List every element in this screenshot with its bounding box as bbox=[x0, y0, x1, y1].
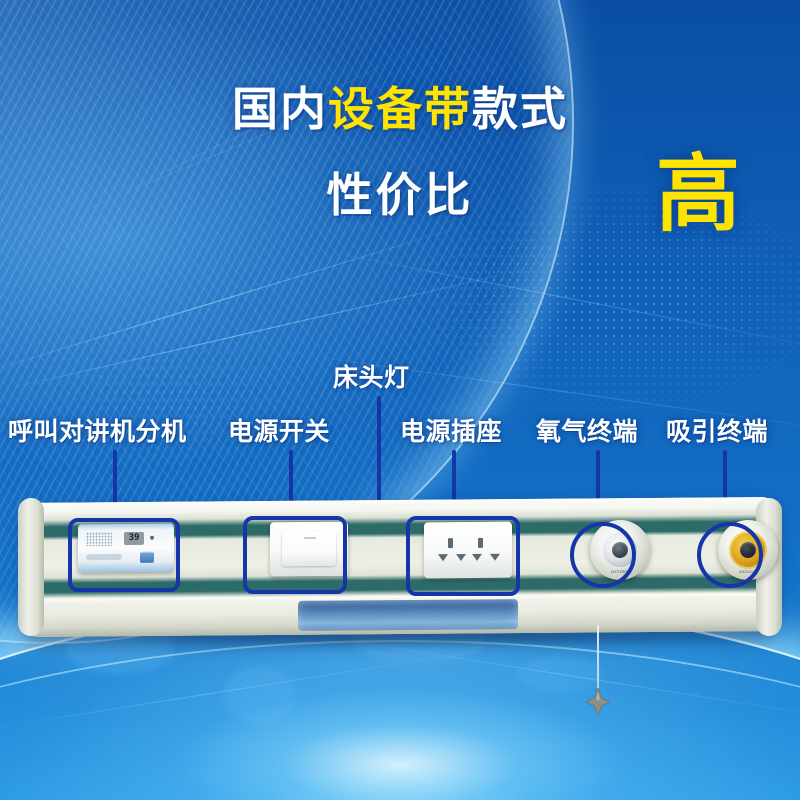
highlight-box-socket bbox=[406, 516, 520, 596]
callout-label-switch: 电源开关 bbox=[228, 412, 330, 448]
headline-text-highlight: 设备带 bbox=[328, 83, 472, 135]
headline-big-char: 高 bbox=[656, 152, 740, 236]
callout-label-bed-lamp: 床头灯 bbox=[333, 358, 410, 394]
headline-text-plain-1: 国内 bbox=[232, 83, 328, 135]
callout-label-oxygen: 氧气终端 bbox=[536, 412, 638, 448]
bed-lamp-diffuser[interactable] bbox=[298, 599, 518, 631]
callout-label-suction: 吸引终端 bbox=[666, 412, 768, 448]
highlight-box-intercom bbox=[68, 518, 180, 592]
highlight-circle-suction bbox=[697, 522, 763, 588]
headline-line-1: 国内设备带款式 bbox=[0, 86, 800, 132]
highlight-box-switch bbox=[243, 516, 347, 594]
callout-label-intercom: 呼叫对讲机分机 bbox=[8, 412, 187, 448]
headline-text-plain-2: 款式 bbox=[472, 83, 568, 135]
promo-image-root: 国内设备带款式 性价比 高 呼叫对讲机分机 电源开关 床头灯 电源插座 氧气终端… bbox=[0, 0, 800, 800]
highlight-circle-oxygen bbox=[570, 522, 636, 588]
cross-weight-icon bbox=[586, 688, 610, 716]
callout-label-socket: 电源插座 bbox=[400, 412, 502, 448]
pull-cord-handle[interactable] bbox=[586, 688, 610, 716]
panel-end-cap-left bbox=[18, 498, 44, 636]
halftone-world-map-left bbox=[0, 300, 420, 520]
horizon-center-glow bbox=[180, 690, 620, 800]
pull-cord-line[interactable] bbox=[597, 625, 599, 697]
